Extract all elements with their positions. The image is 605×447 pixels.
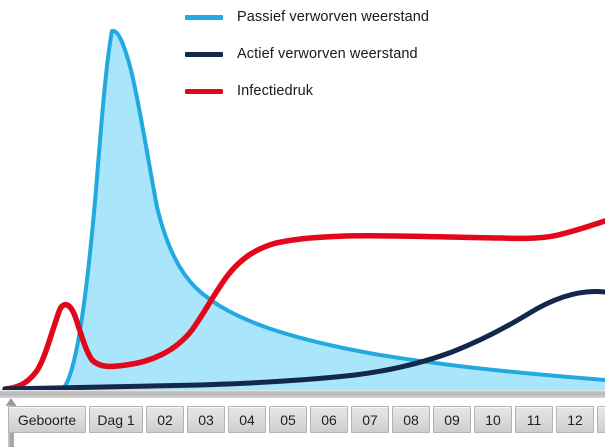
x-tick-12: 12 (556, 406, 594, 433)
x-tick-label: 02 (157, 412, 173, 428)
x-tick-11: 11 (515, 406, 553, 433)
x-tick-dag-1: Dag 1 (89, 406, 143, 433)
chart-figure: Passief verworven weerstand Actief verwo… (0, 0, 605, 447)
legend-item-infection: Infectiedruk (185, 78, 313, 104)
x-tick-label: 05 (280, 412, 296, 428)
legend-line-swatch-infection (185, 89, 223, 94)
x-axis-tick-labels: Geboorte Dag 1 02 03 04 05 06 07 08 09 1… (0, 406, 605, 436)
legend-item-passive: Passief verworven weerstand (185, 4, 429, 30)
x-tick-03: 03 (187, 406, 225, 433)
x-tick-10: 10 (474, 406, 512, 433)
legend-label-active: Actief verworven weerstand (237, 46, 418, 62)
legend-line-swatch-passive (185, 15, 223, 20)
legend-label-infection: Infectiedruk (237, 83, 313, 99)
chart-legend: Passief verworven weerstand Actief verwo… (185, 0, 605, 110)
legend-label-passive: Passief verworven weerstand (237, 9, 429, 25)
x-tick-06: 06 (310, 406, 348, 433)
x-tick-07: 07 (351, 406, 389, 433)
x-tick-label: 04 (239, 412, 255, 428)
legend-line-swatch-active (185, 52, 223, 57)
x-tick-label: 12 (567, 412, 583, 428)
x-tick-label: 03 (198, 412, 214, 428)
x-tick-09: 09 (433, 406, 471, 433)
x-tick-label: 06 (321, 412, 337, 428)
x-tick-13: 13 (597, 406, 605, 433)
x-tick-04: 04 (228, 406, 266, 433)
x-tick-label: 08 (403, 412, 419, 428)
x-tick-geboorte: Geboorte (8, 406, 86, 433)
x-tick-label: Geboorte (18, 412, 76, 428)
x-tick-02: 02 (146, 406, 184, 433)
x-tick-label: 09 (444, 412, 460, 428)
x-tick-08: 08 (392, 406, 430, 433)
x-tick-label: 10 (485, 412, 501, 428)
legend-item-active: Actief verworven weerstand (185, 41, 418, 67)
x-tick-05: 05 (269, 406, 307, 433)
x-tick-label: Dag 1 (97, 412, 134, 428)
x-axis-bar (0, 390, 605, 398)
x-tick-label: 07 (362, 412, 378, 428)
x-tick-label: 11 (527, 412, 542, 428)
